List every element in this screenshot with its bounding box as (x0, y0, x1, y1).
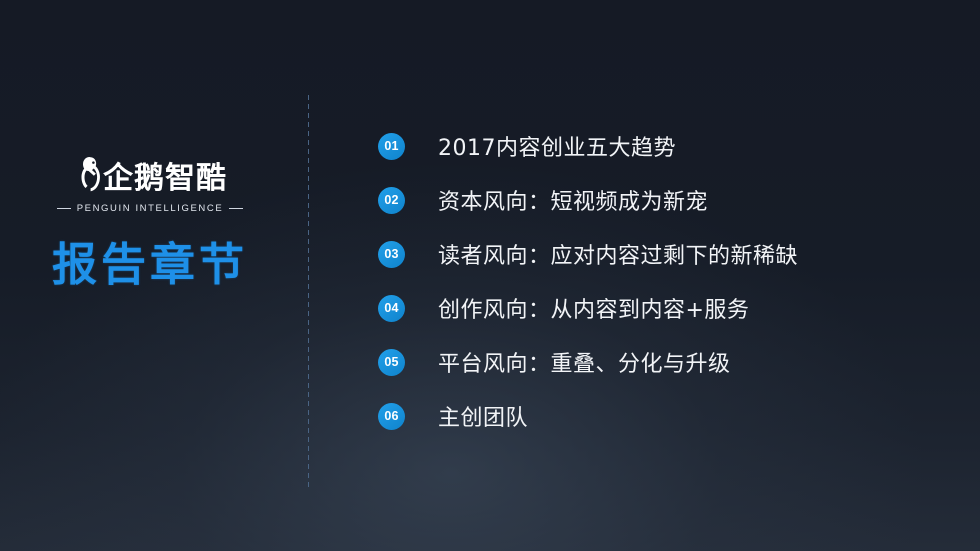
item-number-badge: 01 (378, 133, 405, 160)
item-label: 2017内容创业五大趋势 (438, 130, 676, 162)
item-number-badge: 04 (378, 295, 405, 322)
list-item[interactable]: 04 创作风向：从内容到内容+服务 (378, 281, 953, 335)
brand-panel: 企鹅智酷 PENGUIN INTELLIGENCE 报告章节 (0, 150, 300, 350)
item-label: 平台风向：重叠、分化与升级 (438, 346, 731, 378)
penguin-icon (73, 154, 103, 196)
list-item[interactable]: 02 资本风向：短视频成为新宠 (378, 173, 953, 227)
item-label: 创作风向：从内容到内容+服务 (438, 292, 749, 324)
item-number-badge: 05 (378, 349, 405, 376)
item-label: 读者风向：应对内容过剩下的新稀缺 (438, 238, 798, 270)
item-label: 主创团队 (438, 400, 528, 432)
table-of-contents: 01 2017内容创业五大趋势 02 资本风向：短视频成为新宠 03 读者风向：… (378, 119, 953, 443)
item-label: 资本风向：短视频成为新宠 (438, 184, 708, 216)
item-number-badge: 06 (378, 403, 405, 430)
brand-name-cn: 企鹅智酷 (103, 162, 227, 196)
brand-rule-right (229, 208, 243, 209)
vertical-divider (308, 95, 309, 491)
list-item[interactable]: 03 读者风向：应对内容过剩下的新稀缺 (378, 227, 953, 281)
brand-lockup: 企鹅智酷 PENGUIN INTELLIGENCE (55, 150, 245, 214)
list-item[interactable]: 01 2017内容创业五大趋势 (378, 119, 953, 173)
item-number-badge: 02 (378, 187, 405, 214)
brand-rule-left (57, 208, 71, 209)
list-item[interactable]: 06 主创团队 (378, 389, 953, 443)
brand-name-en: PENGUIN INTELLIGENCE (77, 203, 224, 214)
brand-mark: 企鹅智酷 (55, 150, 245, 196)
list-item[interactable]: 05 平台风向：重叠、分化与升级 (378, 335, 953, 389)
page-title: 报告章节 (0, 240, 300, 290)
slide-canvas: 企鹅智酷 PENGUIN INTELLIGENCE 报告章节 01 2017内容… (0, 0, 980, 551)
item-number-badge: 03 (378, 241, 405, 268)
brand-subtitle-row: PENGUIN INTELLIGENCE (55, 203, 245, 214)
